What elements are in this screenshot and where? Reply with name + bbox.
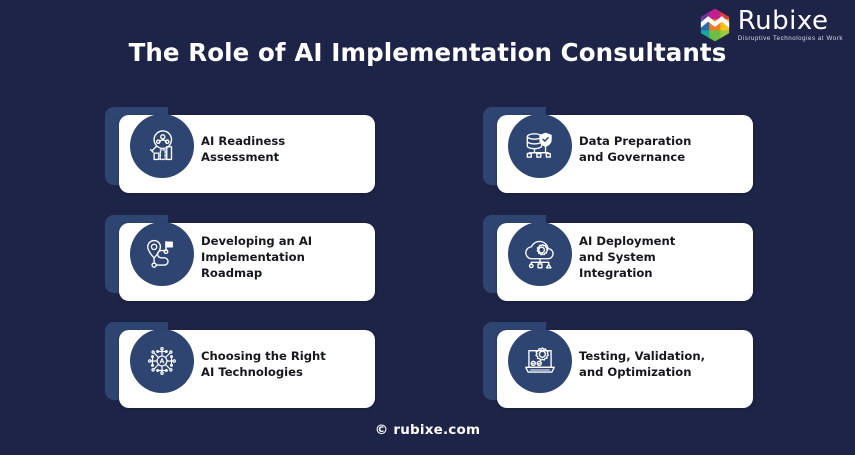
route-location-pin-flag-icon [131,223,193,285]
magnifier-audience-bar-chart-icon [131,115,193,177]
slide-canvas: Rubixe Disruptive Technologies at Work T… [0,0,855,455]
card-label: Testing, Validation, and Optimization [579,322,743,408]
page-title: The Role of AI Implementation Consultant… [0,38,855,67]
card-grid: AI Readiness Assessment [0,101,855,406]
cloud-gear-network-icon [509,223,571,285]
card-developing-ai-implementation-roadmap[interactable]: Developing an AI Implementation Roadmap [105,215,375,301]
brand-name: Rubixe [738,8,843,34]
card-label: AI Deployment and System Integration [579,215,743,301]
card-label: AI Readiness Assessment [201,107,365,193]
card-ai-deployment-and-system-integration[interactable]: AI Deployment and System Integration [483,215,753,301]
card-label: Data Preparation and Governance [579,107,743,193]
card-ai-readiness-assessment[interactable]: AI Readiness Assessment [105,107,375,193]
card-choosing-the-right-ai-technologies[interactable]: Choosing the Right AI Technologies [105,322,375,408]
database-shield-check-icon [509,115,571,177]
card-data-preparation-and-governance[interactable]: Data Preparation and Governance [483,107,753,193]
rubixe-hexagon-logo-icon [698,8,732,42]
footer-copyright[interactable]: © rubixe.com [0,422,855,438]
ai-chip-circuit-icon [131,330,193,392]
card-label: Developing an AI Implementation Roadmap [201,215,365,301]
laptop-gear-testing-icon [509,330,571,392]
card-label: Choosing the Right AI Technologies [201,322,365,408]
card-testing-validation-and-optimization[interactable]: Testing, Validation, and Optimization [483,322,753,408]
